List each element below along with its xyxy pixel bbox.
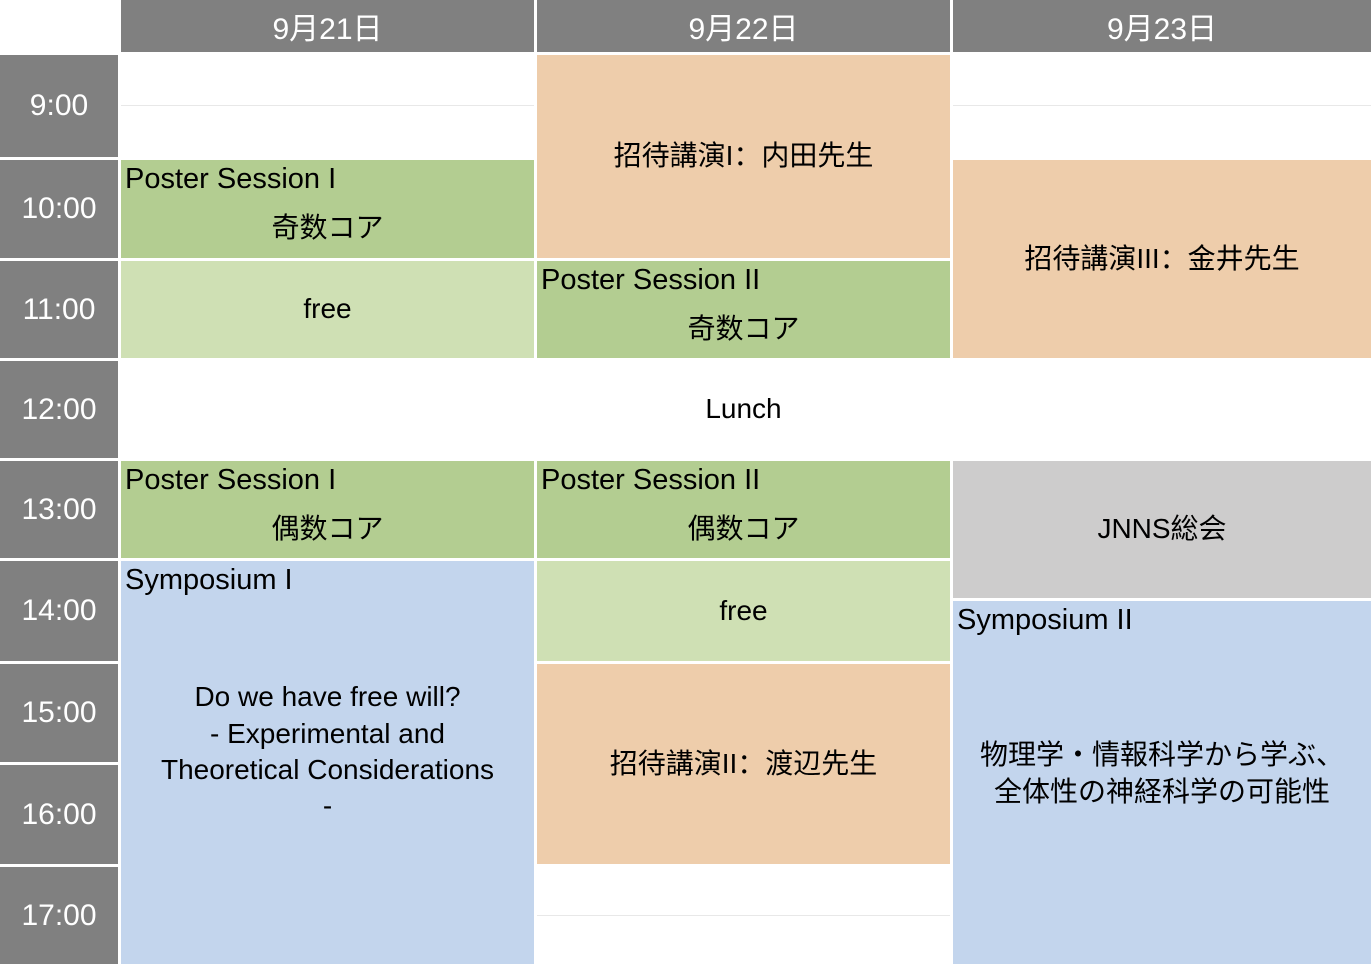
day3-empty-0900 <box>953 55 1371 105</box>
time-label-15: 15:00 <box>0 664 118 762</box>
event-title: 招待講演I：内田先生 <box>541 138 946 174</box>
event-day3-invited-lecture-3[interactable]: 招待講演III：金井先生 <box>953 160 1371 358</box>
time-label-13: 13:00 <box>0 461 118 558</box>
event-body-line-1: 物理学・情報科学から学ぶ、 <box>957 737 1367 773</box>
event-day2-invited-lecture-2[interactable]: 招待講演II：渡辺先生 <box>537 664 950 864</box>
event-body-line-1: Do we have free will? <box>125 679 530 715</box>
day1-empty-0900 <box>121 55 534 105</box>
event-day1-free-am[interactable]: free <box>121 261 534 358</box>
event-title: Poster Session II <box>541 463 946 497</box>
day1-empty-0930 <box>121 106 534 157</box>
event-day1-poster-session-1-pm[interactable]: Poster Session I 偶数コア <box>121 461 534 558</box>
event-body-line-2: 全体性の神経科学の可能性 <box>957 774 1367 810</box>
lunch-span-day1 <box>121 361 534 458</box>
event-title: Poster Session II <box>541 263 946 297</box>
event-title: free <box>541 593 946 629</box>
time-text: 9:00 <box>30 89 88 123</box>
day-header-2: 9月23日 <box>953 0 1371 52</box>
event-day2-poster-session-2-pm[interactable]: Poster Session II 偶数コア <box>537 461 950 558</box>
day-header-label: 9月23日 <box>1107 4 1217 48</box>
time-label-17: 17:00 <box>0 867 118 964</box>
event-day2-invited-lecture-1[interactable]: 招待講演I：内田先生 <box>537 55 950 258</box>
event-title: JNNS総会 <box>957 511 1367 547</box>
time-label-12: 12:00 <box>0 361 118 458</box>
event-body-line-3: Theoretical Considerations <box>125 752 530 788</box>
time-text: 13:00 <box>21 493 96 527</box>
event-body-line-2: - Experimental and <box>125 716 530 752</box>
event-title: Poster Session I <box>125 463 530 497</box>
schedule-table: 9月21日 9月22日 9月23日 9:00 10:00 11:00 12:00… <box>0 0 1371 966</box>
event-body-line-4: - <box>125 788 530 824</box>
event-day2-free-pm[interactable]: free <box>537 561 950 661</box>
time-text: 14:00 <box>21 594 96 628</box>
event-subtitle: 偶数コア <box>125 511 530 547</box>
event-title: 招待講演III：金井先生 <box>957 241 1367 277</box>
event-title: 招待講演II：渡辺先生 <box>541 746 946 782</box>
event-title: Poster Session I <box>125 162 530 196</box>
event-lunch[interactable]: Lunch <box>537 361 950 458</box>
event-day1-symposium-1[interactable]: Symposium I Do we have free will? - Expe… <box>121 561 534 964</box>
event-subtitle: 偶数コア <box>541 511 946 547</box>
time-label-9: 9:00 <box>0 55 118 157</box>
event-title: Symposium I <box>125 563 530 597</box>
time-text: 16:00 <box>21 798 96 832</box>
time-text: 10:00 <box>21 192 96 226</box>
time-text: 17:00 <box>21 899 96 933</box>
time-label-16: 16:00 <box>0 765 118 864</box>
table-corner-blank <box>0 0 118 52</box>
time-text: 12:00 <box>21 393 96 427</box>
time-label-11: 11:00 <box>0 261 118 358</box>
event-day1-poster-session-1-am[interactable]: Poster Session I 奇数コア <box>121 160 534 258</box>
day2-empty-1700 <box>537 867 950 915</box>
event-title: Symposium II <box>957 603 1367 637</box>
day-header-0: 9月21日 <box>121 0 534 52</box>
event-day3-jnns-general-meeting[interactable]: JNNS総会 <box>953 461 1371 598</box>
day-header-label: 9月22日 <box>688 4 798 48</box>
time-text: 11:00 <box>23 293 96 327</box>
time-label-10: 10:00 <box>0 160 118 258</box>
event-subtitle: 奇数コア <box>541 311 946 347</box>
event-title: free <box>125 291 530 327</box>
event-day2-poster-session-2-am[interactable]: Poster Session II 奇数コア <box>537 261 950 358</box>
day-header-label: 9月21日 <box>272 4 382 48</box>
event-day3-symposium-2[interactable]: Symposium II 物理学・情報科学から学ぶ、 全体性の神経科学の可能性 <box>953 601 1371 964</box>
event-title: Lunch <box>541 391 946 427</box>
day-header-1: 9月22日 <box>537 0 950 52</box>
event-subtitle: 奇数コア <box>125 210 530 246</box>
lunch-span-day3 <box>953 361 1371 458</box>
time-text: 15:00 <box>21 696 96 730</box>
time-label-14: 14:00 <box>0 561 118 661</box>
day2-empty-1730 <box>537 916 950 964</box>
day3-empty-0930 <box>953 106 1371 157</box>
